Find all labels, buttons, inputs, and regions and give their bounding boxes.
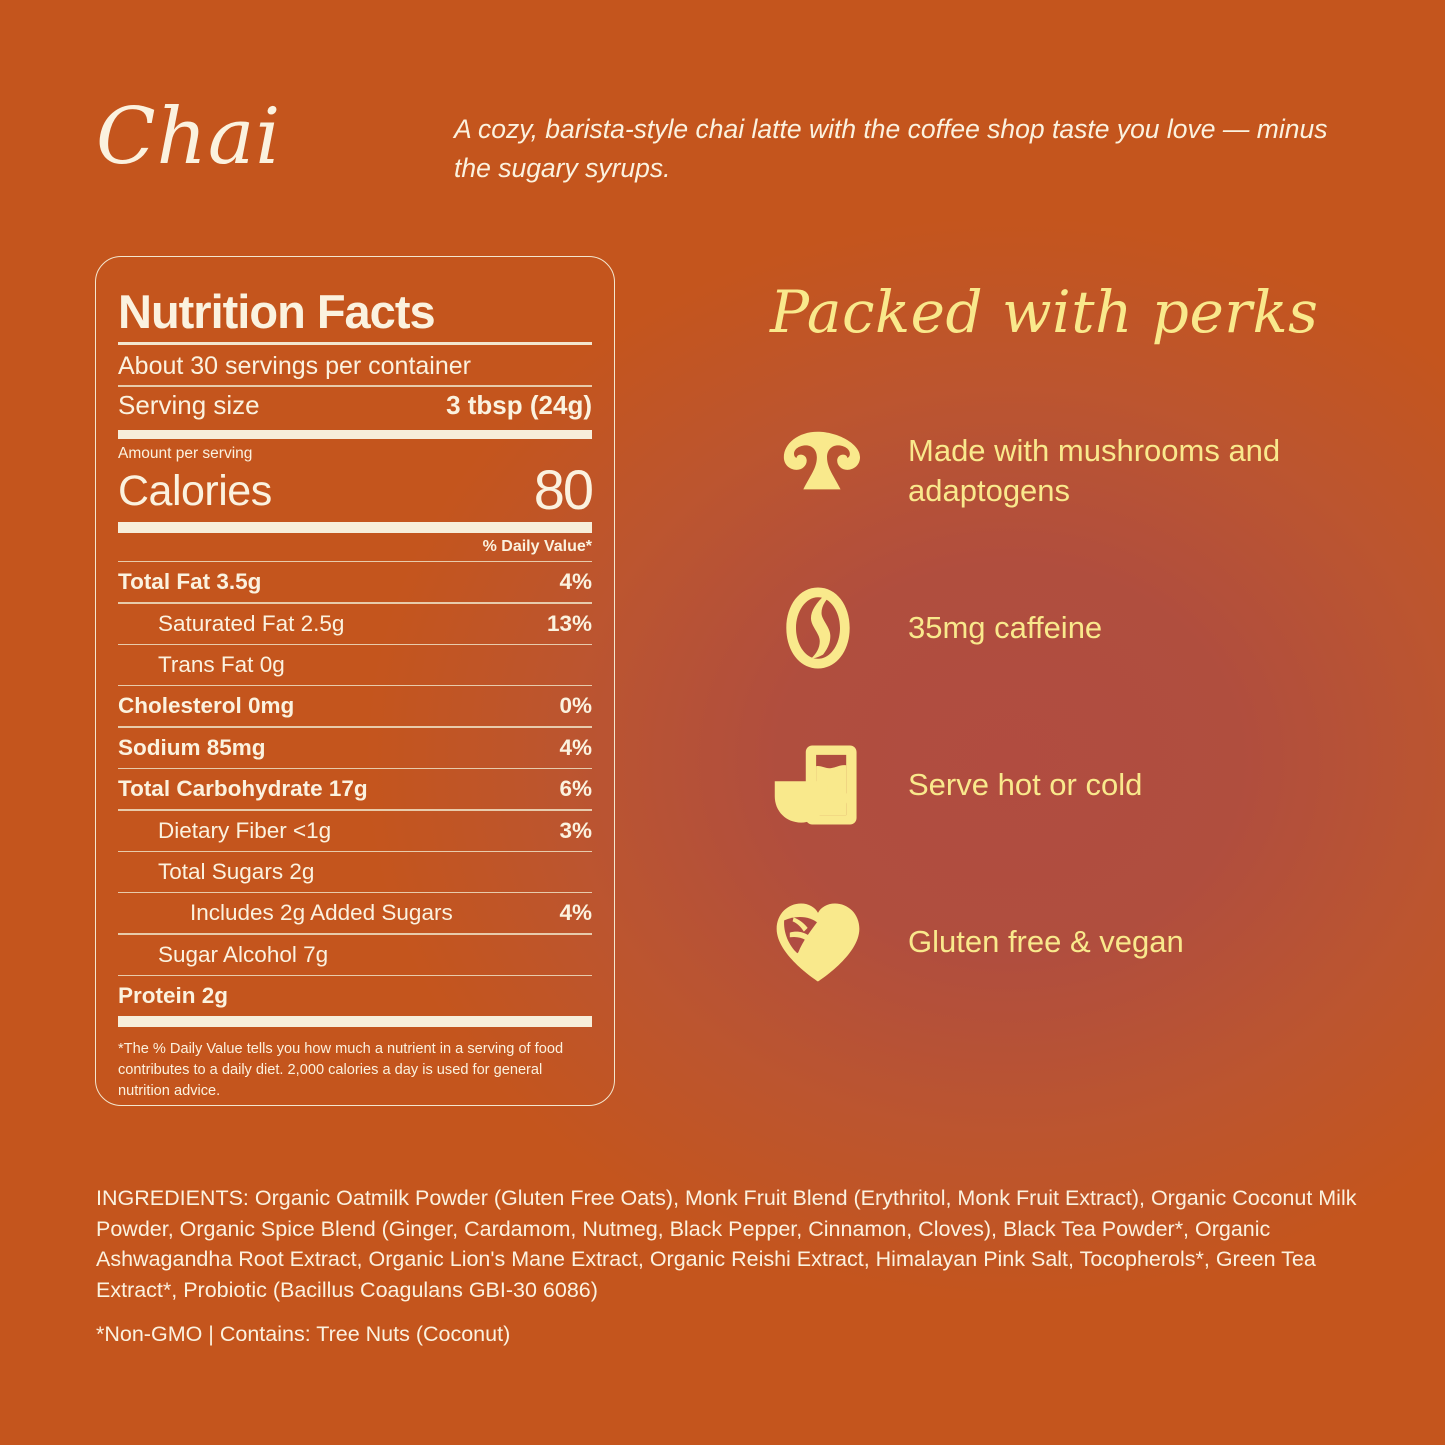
divider [118,644,592,645]
nutrient-row: Sodium 85mg4% [118,728,592,768]
perk-label: Serve hot or cold [908,765,1142,805]
nutrient-label: Dietary Fiber <1g [158,818,331,844]
divider-thick [118,522,592,533]
nutrient-daily-value: 3% [559,818,592,844]
nutrient-daily-value: 4% [559,735,592,761]
perks-list: Made with mushrooms and adaptogens35mg c… [770,423,1370,990]
nutrient-label: Sodium 85mg [118,735,266,761]
nutrient-row: Total Carbohydrate 17g6% [118,769,592,809]
coffee-bean-icon [770,580,866,676]
nutrition-facts-panel: Nutrition Facts About 30 servings per co… [95,256,615,1106]
nutrient-row: Total Sugars 2g [118,852,592,892]
nutrient-row: Dietary Fiber <1g3% [118,811,592,851]
divider [118,685,592,686]
nutrient-label: Protein 2g [118,983,228,1009]
nutrient-label: Total Fat 3.5g [118,569,261,595]
divider-thick [118,430,592,439]
divider [118,768,592,769]
nutrient-daily-value: 0% [559,693,592,719]
nutrient-daily-value: 4% [559,569,592,595]
daily-value-footnote: *The % Daily Value tells you how much a … [118,1027,592,1101]
nutrient-label: Total Carbohydrate 17g [118,776,368,802]
nutrition-facts-title: Nutrition Facts [118,287,592,336]
nutrient-row: Saturated Fat 2.5g13% [118,604,592,644]
nutrient-label: Total Sugars 2g [158,859,314,885]
calories-value: 80 [534,463,592,516]
product-tagline: A cozy, barista-style chai latte with th… [454,88,1334,188]
nutrient-row: Protein 2g [118,976,592,1016]
divider-thick [118,1016,592,1027]
perk-item: Gluten free & vegan [770,894,1370,990]
perk-label: 35mg caffeine [908,608,1102,648]
nutrient-row: Sugar Alcohol 7g [118,935,592,975]
perk-label: Made with mushrooms and adaptogens [908,431,1370,512]
cup-and-glass-icon [770,737,866,833]
nutrient-row: Cholesterol 0mg0% [118,686,592,726]
ingredients-text: INGREDIENTS: Organic Oatmilk Powder (Glu… [96,1183,1358,1305]
daily-value-header: % Daily Value* [118,533,592,561]
product-label-page: Chai A cozy, barista-style chai latte wi… [0,0,1445,1445]
heart-leaf-icon [770,894,866,990]
nutrient-row: Includes 2g Added Sugars4% [118,893,592,933]
perk-label: Gluten free & vegan [908,922,1184,962]
nutrient-rows: Total Fat 3.5g4%Saturated Fat 2.5g13%Tra… [118,561,592,1027]
divider [118,561,592,562]
nutrient-label: Saturated Fat 2.5g [158,611,344,637]
divider [118,602,592,603]
nutrient-row: Trans Fat 0g [118,645,592,685]
serving-size-value: 3 tbsp (24g) [446,390,592,421]
nutrient-daily-value: 4% [559,900,592,926]
perk-item: Serve hot or cold [770,737,1370,833]
perk-item: Made with mushrooms and adaptogens [770,423,1370,519]
nutrient-daily-value: 13% [547,611,592,637]
divider [118,726,592,727]
brand-title: Chai [96,88,396,188]
nutrient-row: Total Fat 3.5g4% [118,562,592,602]
nutrient-label: Trans Fat 0g [158,652,285,678]
amount-per-serving-label: Amount per serving [118,439,592,463]
mushroom-icon [770,423,866,519]
serving-size-row: Serving size 3 tbsp (24g) [118,387,592,430]
divider [118,933,592,934]
perks-title: Packed with perks [770,283,1370,341]
nutrient-daily-value: 6% [559,776,592,802]
servings-per-container: About 30 servings per container [118,345,592,385]
nutrient-label: Includes 2g Added Sugars [190,900,453,926]
nutrient-label: Cholesterol 0mg [118,693,294,719]
calories-row: Calories 80 [118,463,592,522]
allergen-text: *Non-GMO | Contains: Tree Nuts (Coconut) [96,1322,1096,1347]
divider [118,851,592,852]
serving-size-label: Serving size [118,390,260,421]
nutrient-label: Sugar Alcohol 7g [158,942,328,968]
calories-label: Calories [118,467,272,516]
divider [118,385,592,386]
divider [118,892,592,893]
divider [118,809,592,810]
divider [118,975,592,976]
perk-item: 35mg caffeine [770,580,1370,676]
perks-section: Packed with perks Made with mushrooms an… [770,283,1370,990]
header: Chai A cozy, barista-style chai latte wi… [96,88,1356,188]
